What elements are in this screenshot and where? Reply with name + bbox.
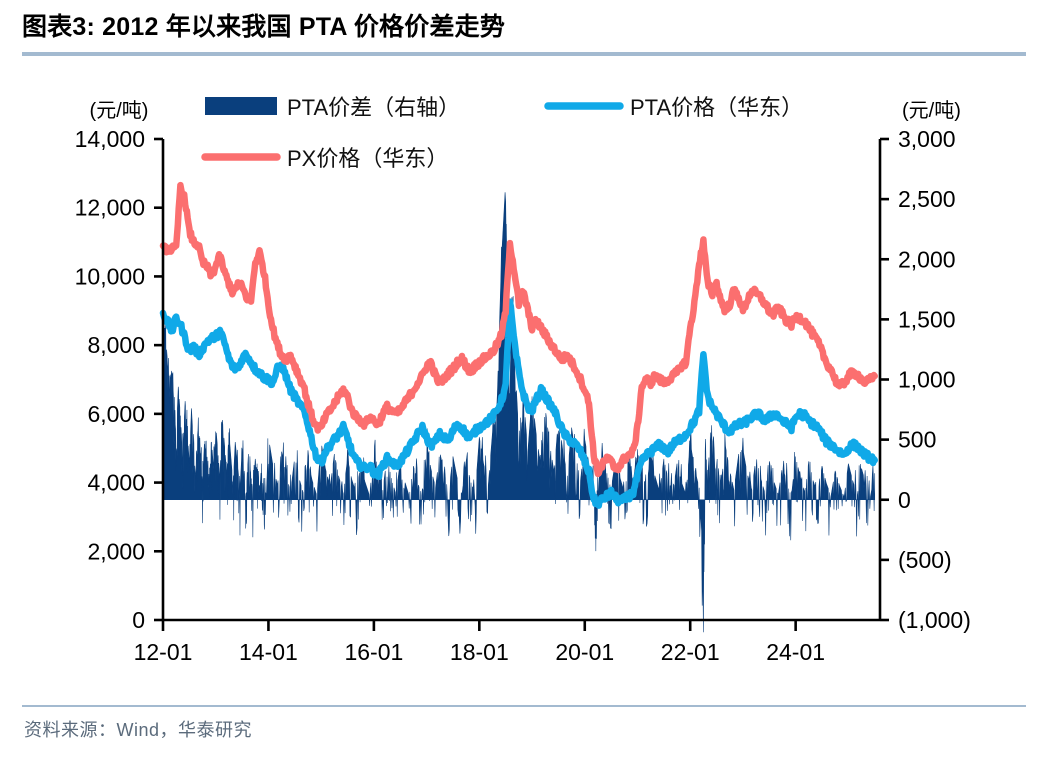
chart-svg: PTA价差（右轴）PTA价格（华东）PX价格（华东） 02,0004,0006,… (0, 60, 1048, 700)
right-axis-tick-label: 1,500 (898, 306, 956, 332)
chart-plot-area: PTA价差（右轴）PTA价格（华东）PX价格（华东） 02,0004,0006,… (0, 60, 1048, 700)
legend-swatch-0 (205, 97, 277, 115)
right-axis-tick-label: 1,000 (898, 367, 956, 393)
footer-divider (22, 705, 1026, 707)
title-divider (22, 52, 1026, 56)
source-text: 资料来源：Wind，华泰研究 (24, 720, 252, 740)
right-axis-unit: (元/吨) (902, 99, 961, 122)
right-axis-tick-label: (500) (898, 547, 952, 573)
right-axis-tick-label: 2,500 (898, 186, 956, 212)
title-row: 图表3: 2012 年以来我国 PTA 价格价差走势 (22, 10, 1022, 46)
source-note: 资料来源：Wind，华泰研究 (24, 716, 252, 742)
right-axis-tick-label: 0 (898, 487, 911, 513)
x-axis-tick-label: 18-01 (450, 639, 509, 665)
x-axis-tick-label: 14-01 (239, 639, 298, 665)
page-title: 图表3: 2012 年以来我国 PTA 价格价差走势 (22, 10, 1022, 44)
left-axis-tick-label: 14,000 (75, 126, 145, 152)
right-axis-tick-label: 500 (898, 427, 936, 453)
left-axis-tick-label: 6,000 (87, 401, 145, 427)
x-axis-tick-label: 20-01 (555, 639, 614, 665)
left-axis-tick-label: 4,000 (87, 470, 145, 496)
left-axis-tick-label: 12,000 (75, 195, 145, 221)
x-axis-tick-label: 12-01 (134, 639, 193, 665)
left-axis-tick-label: 10,000 (75, 263, 145, 289)
right-axis-tick-label: 3,000 (898, 126, 956, 152)
x-axis-tick-label: 24-01 (766, 639, 825, 665)
right-axis-tick-label: 2,000 (898, 246, 956, 272)
x-axis-tick-label: 16-01 (344, 639, 403, 665)
left-axis-tick-label: 0 (132, 607, 145, 633)
series-line-px-price (163, 185, 875, 474)
right-axis-tick-label: (1,000) (898, 607, 971, 633)
chart-figure: 图表3: 2012 年以来我国 PTA 价格价差走势 PTA价差（右轴）PTA价… (0, 0, 1048, 760)
x-axis-tick-label: 22-01 (661, 639, 720, 665)
left-axis-tick-label: 2,000 (87, 538, 145, 564)
legend-label-0: PTA价差（右轴） (287, 95, 460, 120)
legend-label-1: PTA价格（华东） (630, 95, 803, 120)
chart-legend: PTA价差（右轴）PTA价格（华东）PX价格（华东） (205, 95, 803, 171)
legend-label-2: PX价格（华东） (287, 146, 448, 171)
chart-series-group (163, 185, 875, 632)
left-axis-tick-label: 8,000 (87, 332, 145, 358)
left-axis-unit: (元/吨) (90, 99, 149, 122)
